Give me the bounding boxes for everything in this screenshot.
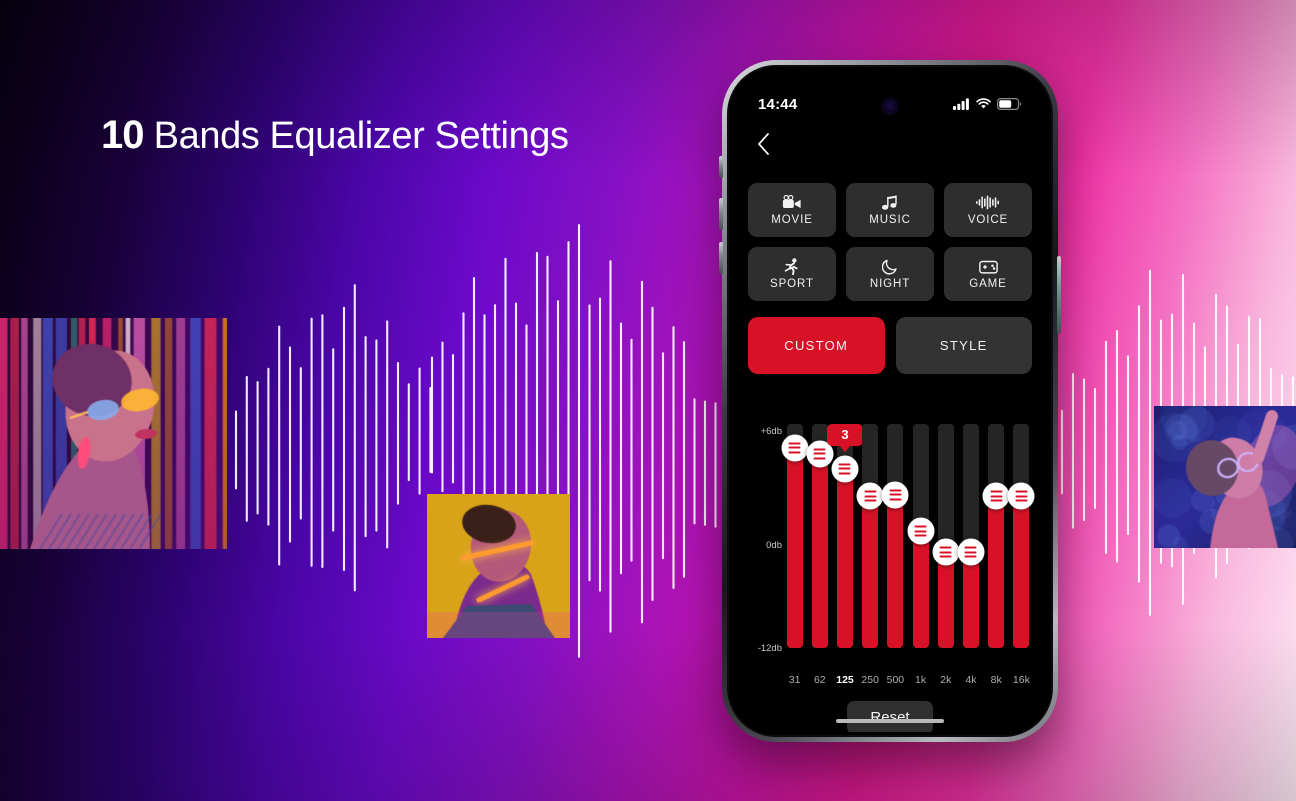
slider-thumb[interactable] [781, 434, 808, 461]
equalizer-sliders: 3 [782, 410, 1034, 670]
frequency-label: 125 [836, 674, 854, 686]
reset-label: Reset [870, 709, 909, 726]
preset-grid: MOVIE MUSIC [748, 183, 1032, 301]
equalizer-band-16k[interactable] [1009, 410, 1034, 670]
slider-thumb[interactable] [1008, 483, 1035, 510]
equalizer-panel: +6db 0db -12db 3 [732, 410, 1048, 670]
frequency-label: 250 [861, 674, 879, 686]
frequency-label-row: 31621252505001k2k4k8k16k [782, 674, 1034, 690]
music-note-icon [882, 194, 899, 211]
mode-button-style[interactable]: STYLE [896, 317, 1033, 374]
axis-label-bottom: -12db [742, 643, 782, 654]
headline-text: Bands Equalizer Settings [144, 115, 569, 157]
preset-label: NIGHT [870, 278, 910, 290]
mode-label: CUSTOM [784, 338, 848, 353]
frequency-label: 1k [915, 674, 926, 686]
preset-button-night[interactable]: NIGHT [846, 247, 934, 301]
status-icons [953, 98, 1022, 110]
slider-track[interactable] [1013, 424, 1029, 648]
wifi-icon [976, 98, 991, 110]
slider-fill [1013, 496, 1029, 648]
status-time: 14:44 [758, 96, 797, 113]
slider-fill [938, 552, 954, 648]
preset-label: SPORT [770, 278, 814, 290]
equalizer-band-500[interactable] [883, 410, 908, 670]
slider-thumb[interactable] [932, 539, 959, 566]
equalizer-band-4k[interactable] [958, 410, 983, 670]
slider-track[interactable] [862, 424, 878, 648]
slider-track[interactable] [938, 424, 954, 648]
slider-fill [963, 552, 979, 648]
home-indicator[interactable] [836, 719, 944, 723]
mode-row: CUSTOM STYLE [748, 317, 1032, 374]
phone-bezel: 14:44 [727, 65, 1053, 737]
slider-fill [787, 448, 803, 648]
signal-icon [953, 98, 970, 110]
preset-label: VOICE [968, 214, 1008, 226]
equalizer-band-8k[interactable] [984, 410, 1009, 670]
slider-thumb[interactable] [983, 483, 1010, 510]
equalizer-band-62[interactable] [807, 410, 832, 670]
mode-button-custom[interactable]: CUSTOM [748, 317, 885, 374]
frequency-label: 4k [965, 674, 976, 686]
poster-canvas: 10 Bands Equalizer Settings 14:44 [0, 0, 1296, 801]
status-bar: 14:44 [732, 93, 1048, 115]
slider-thumb[interactable] [857, 483, 884, 510]
slider-fill [862, 496, 878, 648]
frequency-label: 500 [887, 674, 905, 686]
slider-track[interactable] [988, 424, 1004, 648]
slider-fill [812, 454, 828, 648]
frequency-label: 16k [1013, 674, 1030, 686]
battery-icon [997, 98, 1022, 110]
preset-button-movie[interactable]: MOVIE [748, 183, 836, 237]
equalizer-band-2k[interactable] [933, 410, 958, 670]
slider-thumb[interactable] [882, 481, 909, 508]
movie-camera-icon [782, 194, 802, 211]
preset-label: MUSIC [869, 214, 911, 226]
axis-label-top: +6db [742, 426, 782, 437]
volume-down-button[interactable] [719, 242, 723, 274]
equalizer-band-125[interactable]: 3 [832, 410, 857, 670]
preset-label: MOVIE [771, 214, 813, 226]
page-title: 10 Bands Equalizer Settings [101, 113, 569, 158]
preset-button-music[interactable]: MUSIC [846, 183, 934, 237]
photo-neon-sunglasses-woman [0, 318, 227, 549]
running-person-icon [784, 258, 800, 275]
slider-thumb[interactable] [831, 455, 858, 482]
phone-screen: 14:44 [732, 70, 1048, 732]
back-button[interactable] [750, 131, 776, 157]
frequency-label: 8k [991, 674, 1002, 686]
waveform-icon [976, 194, 1000, 211]
mode-label: STYLE [940, 338, 988, 353]
photo-yellow-backdrop-man [427, 494, 570, 638]
equalizer-band-1k[interactable] [908, 410, 933, 670]
preset-button-game[interactable]: GAME [944, 247, 1032, 301]
power-button[interactable] [1057, 256, 1061, 334]
slider-fill [837, 469, 853, 648]
volume-up-button[interactable] [719, 198, 723, 230]
reset-button[interactable]: Reset [847, 701, 933, 732]
slider-track[interactable] [963, 424, 979, 648]
nav-bar [732, 126, 1048, 162]
equalizer-band-31[interactable] [782, 410, 807, 670]
frequency-label: 62 [814, 674, 826, 686]
headline-number: 10 [101, 113, 144, 157]
axis-label-mid: 0db [742, 540, 782, 551]
slider-track[interactable] [887, 424, 903, 648]
frequency-label: 31 [789, 674, 801, 686]
phone-mockup: 14:44 [722, 60, 1058, 742]
slider-fill [887, 495, 903, 648]
preset-label: GAME [969, 278, 1006, 290]
moon-icon [882, 258, 899, 275]
preset-button-sport[interactable]: SPORT [748, 247, 836, 301]
equalizer-band-250[interactable] [858, 410, 883, 670]
photo-party-dancer-woman [1154, 406, 1296, 548]
slider-thumb[interactable] [957, 539, 984, 566]
preset-button-voice[interactable]: VOICE [944, 183, 1032, 237]
mute-switch[interactable] [719, 156, 723, 178]
frequency-label: 2k [940, 674, 951, 686]
gamepad-icon [979, 258, 998, 275]
slider-fill [988, 496, 1004, 648]
chevron-left-icon [757, 133, 770, 155]
slider-thumb[interactable] [907, 518, 934, 545]
slider-fill [913, 531, 929, 648]
